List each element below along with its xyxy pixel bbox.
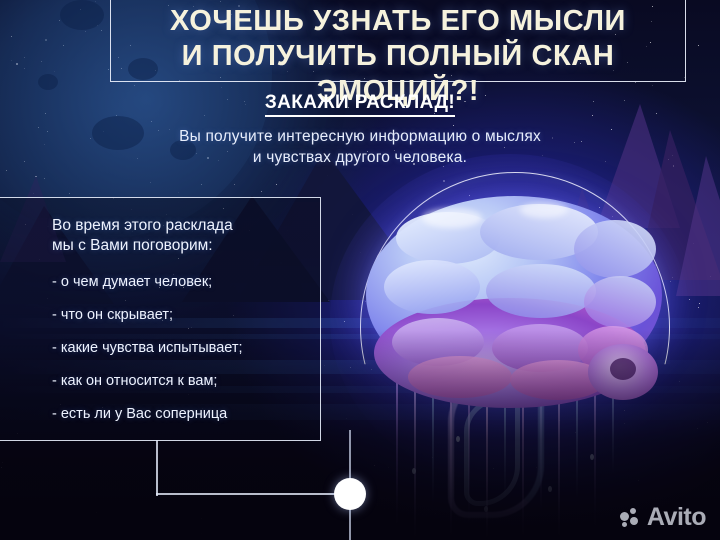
- list-item: - есть ли у Вас соперница: [52, 405, 331, 424]
- brain-stem-swirl: [448, 374, 544, 518]
- list-item: - что он скрывает;: [52, 306, 331, 325]
- list-item: - какие чувства испытывает;: [52, 339, 331, 358]
- topics-title: Во время этого расклада мы с Вами погово…: [52, 216, 331, 256]
- brain-stem-swirl-inner: [464, 398, 520, 506]
- avito-logo-icon: [620, 508, 642, 528]
- subtext: Вы получите интересную информацию о мысл…: [0, 126, 720, 168]
- cta-label: ЗАКАЖИ РАСКЛАД!: [265, 92, 455, 117]
- subtext-line-2: и чувствах другого человека.: [0, 147, 720, 168]
- headline-line-1: ХОЧЕШЬ УЗНАТЬ ЕГО МЫСЛИ: [110, 4, 686, 39]
- avito-watermark: Avito: [620, 503, 706, 532]
- decor-vertical-line-left: [156, 440, 158, 496]
- decor-node-circle: [334, 478, 366, 510]
- avito-wordmark: Avito: [647, 503, 706, 532]
- topics-content: Во время этого расклада мы с Вами погово…: [0, 197, 347, 441]
- list-item: - как он относится к вам;: [52, 372, 331, 391]
- list-item: - о чем думает человек;: [52, 273, 331, 292]
- cta-order-reading[interactable]: ЗАКАЖИ РАСКЛАД!: [0, 92, 720, 114]
- topics-title-line-1: Во время этого расклада: [52, 216, 331, 236]
- poster-canvas: ХОЧЕШЬ УЗНАТЬ ЕГО МЫСЛИ И ПОЛУЧИТЬ ПОЛНЫ…: [0, 0, 720, 540]
- subtext-line-1: Вы получите интересную информацию о мысл…: [0, 126, 720, 147]
- topics-title-line-2: мы с Вами поговорим:: [52, 236, 331, 256]
- decor-horizontal-line: [156, 493, 352, 495]
